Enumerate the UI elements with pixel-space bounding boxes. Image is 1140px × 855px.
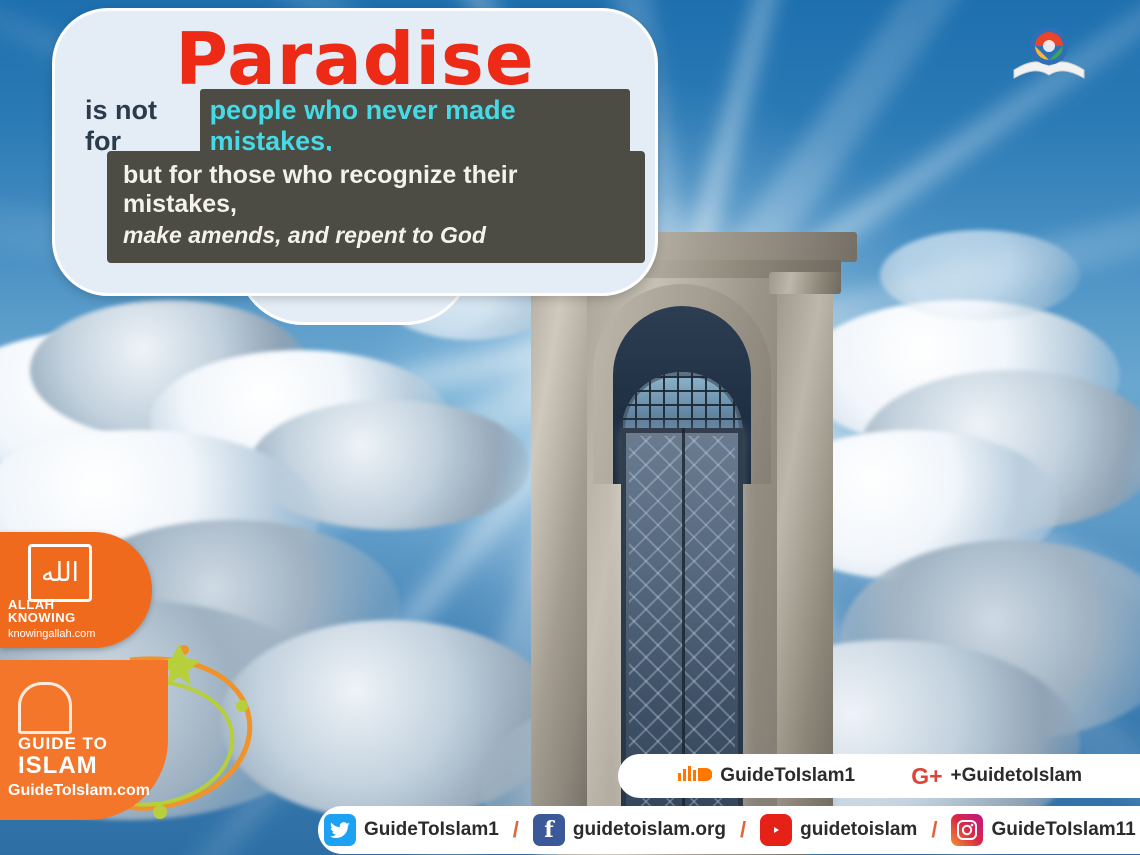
speech-bubble: Paradise is not for people who never mad… <box>52 8 658 296</box>
social-bar-top: GuideToIslam1 / G+ +GuidetoIslam <box>618 754 1140 798</box>
social-bar-bottom: GuideToIslam1 / f guidetoislam.org / gui… <box>318 806 1140 854</box>
quote-line-2: make amends, and repent to God <box>123 222 629 249</box>
knowing-allah-badge[interactable]: الله ALLAH KNOWING knowingallah.com <box>0 532 152 648</box>
subtitle-prefix: is not for <box>85 95 200 157</box>
social-item-googleplus[interactable]: G+ +GuidetoIslam <box>905 763 1088 790</box>
google-plus-icon: G+ <box>911 763 942 790</box>
social-item-youtube[interactable]: guidetoislam <box>754 814 923 846</box>
gti-line2: ISLAM <box>18 752 98 780</box>
quote-line-1: but for those who recognize their mistak… <box>123 161 629 219</box>
social-item-twitter[interactable]: GuideToIslam1 <box>318 814 505 846</box>
mosque-icon <box>18 682 72 734</box>
soundcloud-label: GuideToIslam1 <box>720 765 855 787</box>
facebook-icon: f <box>533 814 565 846</box>
open-book-logo <box>1010 24 1088 86</box>
separator-facebook: / <box>732 817 754 843</box>
soundcloud-icon <box>678 763 712 789</box>
youtube-icon <box>760 814 792 846</box>
arabic-allah-mark: الله <box>28 544 92 602</box>
instagram-icon <box>951 814 983 846</box>
youtube-label: guidetoislam <box>800 819 917 841</box>
separator-twitter: / <box>505 817 527 843</box>
gti-website[interactable]: GuideToIslam.com <box>8 782 150 800</box>
facebook-label: guidetoislam.org <box>573 819 726 841</box>
social-item-facebook[interactable]: f guidetoislam.org <box>527 814 732 846</box>
poster-image: Paradise is not for people who never mad… <box>0 0 1140 855</box>
quote-block: but for those who recognize their mistak… <box>107 151 645 263</box>
guide-to-islam-badge[interactable]: GUIDE TO ISLAM GuideToIslam.com <box>0 660 168 820</box>
social-item-soundcloud[interactable]: GuideToIslam1 <box>672 763 861 789</box>
twitter-icon <box>324 814 356 846</box>
googleplus-label: +GuidetoIslam <box>951 765 1082 787</box>
separator-youtube: / <box>923 817 945 843</box>
subtitle-line: is not for people who never made mistake… <box>85 106 630 146</box>
arch-window <box>621 372 743 434</box>
gti-line1: GUIDE TO <box>18 734 108 754</box>
social-item-instagram[interactable]: GuideToIslam11 <box>945 814 1140 846</box>
instagram-label: GuideToIslam11 <box>991 819 1135 841</box>
twitter-label: GuideToIslam1 <box>364 819 499 841</box>
knowing-allah-website[interactable]: knowingallah.com <box>8 628 138 640</box>
knowing-allah-line1: ALLAH KNOWING <box>8 598 108 624</box>
ka-knowing-text: KNOWING <box>8 610 76 625</box>
